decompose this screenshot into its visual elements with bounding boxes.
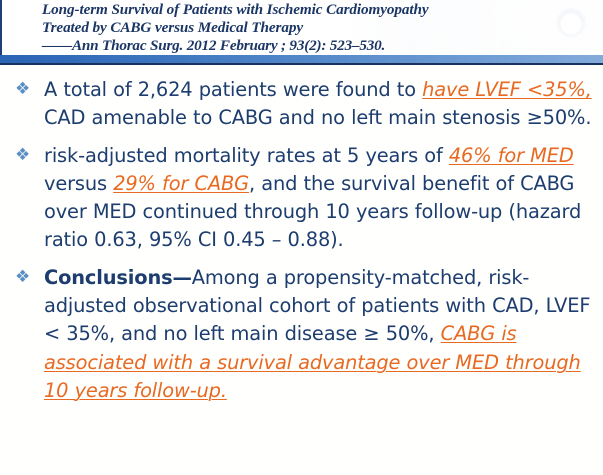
bullet-2-segment-2: 46% for MED	[449, 144, 574, 167]
header-accent-underline	[0, 63, 603, 65]
slide-title: Long-term Survival of Patients with Isch…	[42, 1, 595, 55]
slide-header: Long-term Survival of Patients with Isch…	[0, 0, 603, 55]
bullet-item-3: ❖ Conclusions—Among a propensity-matched…	[0, 264, 603, 405]
header-accent-bar	[0, 55, 603, 63]
diamond-bullet-icon: ❖	[15, 267, 30, 287]
bullet-text-1: A total of 2,624 patients were found to …	[44, 78, 592, 129]
bullet-2-segment-3: versus	[44, 172, 113, 195]
bullet-text-3: Conclusions—Among a propensity-matched, …	[44, 266, 590, 402]
bullet-text-2: risk-adjusted mortality rates at 5 years…	[44, 144, 581, 252]
title-line-2: Treated by CABG versus Medical Therapy	[42, 19, 595, 37]
bullet-item-1: ❖ A total of 2,624 patients were found t…	[0, 76, 603, 133]
diamond-bullet-icon: ❖	[15, 79, 30, 99]
title-line-1: Long-term Survival of Patients with Isch…	[42, 1, 595, 19]
bullet-3-segment-1: Conclusions—	[44, 266, 192, 289]
diamond-bullet-icon: ❖	[15, 145, 30, 165]
title-citation-line: ——Ann Thorac Surg. 2012 February ; 93(2)…	[42, 37, 595, 55]
bullet-2-segment-1: risk-adjusted mortality rates at 5 years…	[44, 144, 449, 167]
header-left-rule	[0, 0, 2, 55]
slide-canvas: Long-term Survival of Patients with Isch…	[0, 0, 603, 475]
bullet-1-segment-1: A total of 2,624 patients were found to	[44, 78, 422, 101]
bullet-1-segment-3: CAD amenable to CABG and no left main st…	[44, 106, 591, 129]
slide-body: ❖ A total of 2,624 patients were found t…	[0, 66, 603, 475]
bullet-2-segment-4: 29% for CABG	[113, 172, 249, 195]
bullet-1-segment-2: have LVEF <35%,	[422, 78, 592, 101]
bullet-item-2: ❖ risk-adjusted mortality rates at 5 yea…	[0, 142, 603, 255]
